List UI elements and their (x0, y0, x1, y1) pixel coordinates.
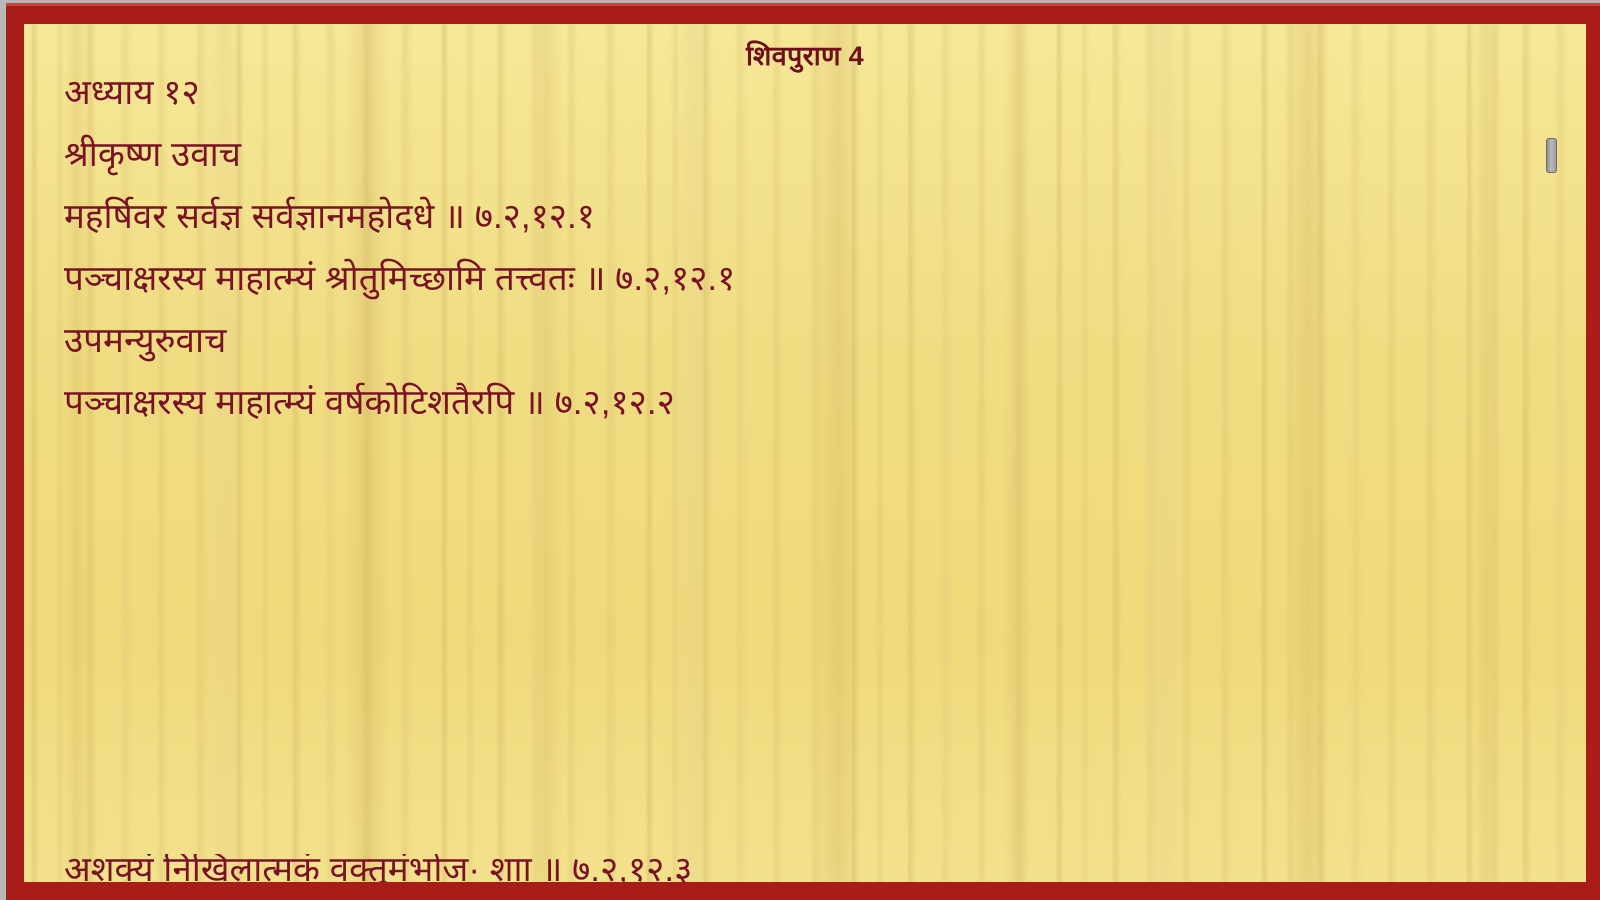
speaker-line: श्रीकृष्ण उवाच (64, 137, 1546, 172)
verse-body: अध्याय १२ श्रीकृष्ण उवाच महर्षिवर सर्वज्… (24, 73, 1586, 420)
app-window: शिवपुराण 4 अध्याय १२ श्रीकृष्ण उवाच महर्… (0, 0, 1600, 900)
window-frame: शिवपुराण 4 अध्याय १२ श्रीकृष्ण उवाच महर्… (6, 3, 1600, 900)
vertical-scrollbar-thumb[interactable] (1546, 138, 1557, 173)
verse-line: पञ्चाक्षरस्य माहात्म्यं वर्षकोटिशतैरपि ॥… (64, 385, 1546, 420)
clipped-verse-row: अशक्यं निखिलात्मकं वक्तुमंभोज· शाा ॥ ७.२… (64, 854, 1546, 882)
page-title: शिवपुराण 4 (24, 24, 1586, 73)
verse-line: पञ्चाक्षरस्य माहात्म्यं श्रोतुमिच्छामि त… (64, 261, 1546, 296)
reader-pane[interactable]: शिवपुराण 4 अध्याय १२ श्रीकृष्ण उवाच महर्… (24, 24, 1586, 882)
verse-line: अशक्यं निखिलात्मकं वक्तुमंभोज· शाा ॥ ७.२… (64, 854, 1546, 882)
speaker-line: उपमन्युरुवाच (64, 323, 1546, 358)
verse-line: महर्षिवर सर्वज्ञ सर्वज्ञानमहोदधे ॥ ७.२,१… (64, 199, 1546, 234)
chapter-heading: अध्याय १२ (64, 75, 1546, 110)
